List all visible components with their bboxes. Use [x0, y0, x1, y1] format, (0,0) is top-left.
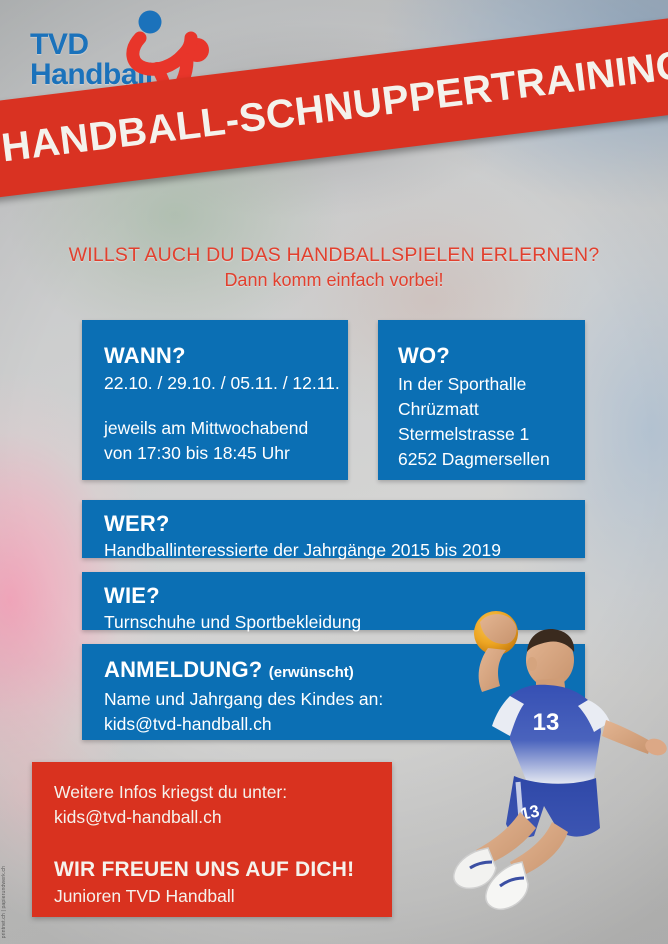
spacer: [104, 396, 348, 416]
print-credit-text: printnet.ch | papierundwerk.ch: [1, 866, 8, 938]
info-box-anmeldung-title: ANMELDUNG? (erwünscht): [104, 656, 585, 687]
footer-info-signature: Junioren TVD Handball: [54, 884, 392, 909]
info-box-wann-time: von 17:30 bis 18:45 Uhr: [104, 441, 348, 466]
info-box-wo: WO? In der Sporthalle Chrüzmatt Stermels…: [378, 320, 585, 480]
info-box-anmeldung-instruction: Name und Jahrgang des Kindes an:: [104, 687, 585, 712]
info-box-wer-text: Handballinteressierte der Jahrgänge 2015…: [104, 538, 585, 563]
shorts-number-text: 13: [519, 801, 541, 824]
info-box-wann-day: jeweils am Mittwochabend: [104, 416, 348, 441]
subheadline: WILLST AUCH DU DAS HANDBALLSPIELEN ERLER…: [0, 243, 668, 292]
info-box-anmeldung-title-suffix: (erwünscht): [269, 664, 354, 681]
info-box-wer: WER? Handballinteressierte der Jahrgänge…: [82, 500, 585, 558]
shoe-front: [486, 862, 528, 909]
footer-info-box: Weitere Infos kriegst du unter: kids@tvd…: [32, 762, 392, 917]
info-box-wie-text: Turnschuhe und Sportbekleidung: [104, 610, 585, 635]
club-logo-line1: TVD: [30, 28, 89, 61]
footer-info-email[interactable]: kids@tvd-handball.ch: [54, 805, 392, 830]
info-box-wo-street: Stermelstrasse 1: [398, 422, 585, 447]
spacer: [54, 830, 392, 856]
info-box-wann-dates: 22.10. / 29.10. / 05.11. / 12.11.: [104, 371, 348, 396]
info-box-wo-venue: In der Sporthalle: [398, 372, 585, 397]
shoe-back: [454, 848, 496, 888]
info-box-wer-title: WER?: [104, 510, 585, 538]
info-box-anmeldung: ANMELDUNG? (erwünscht) Name und Jahrgang…: [82, 644, 585, 740]
info-box-anmeldung-title-main: ANMELDUNG?: [104, 657, 262, 682]
info-box-wie-title: WIE?: [104, 582, 585, 610]
info-box-anmeldung-email[interactable]: kids@tvd-handball.ch: [104, 712, 585, 737]
poster-root: TVD Handball HANDBALL-SCHNUPPERTRAININGS…: [0, 0, 668, 944]
info-box-wo-hall: Chrüzmatt: [398, 397, 585, 422]
footer-info-headline: WIR FREUEN UNS AUF DICH!: [54, 856, 392, 884]
footer-info-line1: Weitere Infos kriegst du unter:: [54, 780, 392, 805]
info-box-wie: WIE? Turnschuhe und Sportbekleidung: [82, 572, 585, 630]
subheadline-line1: WILLST AUCH DU DAS HANDBALLSPIELEN ERLER…: [0, 243, 668, 268]
info-box-wann: WANN? 22.10. / 29.10. / 05.11. / 12.11. …: [82, 320, 348, 480]
info-box-wann-title: WANN?: [104, 342, 348, 370]
info-box-wo-city: 6252 Dagmersellen: [398, 447, 585, 472]
subheadline-line2: Dann komm einfach vorbei!: [0, 268, 668, 292]
info-box-wo-title: WO?: [398, 342, 585, 370]
